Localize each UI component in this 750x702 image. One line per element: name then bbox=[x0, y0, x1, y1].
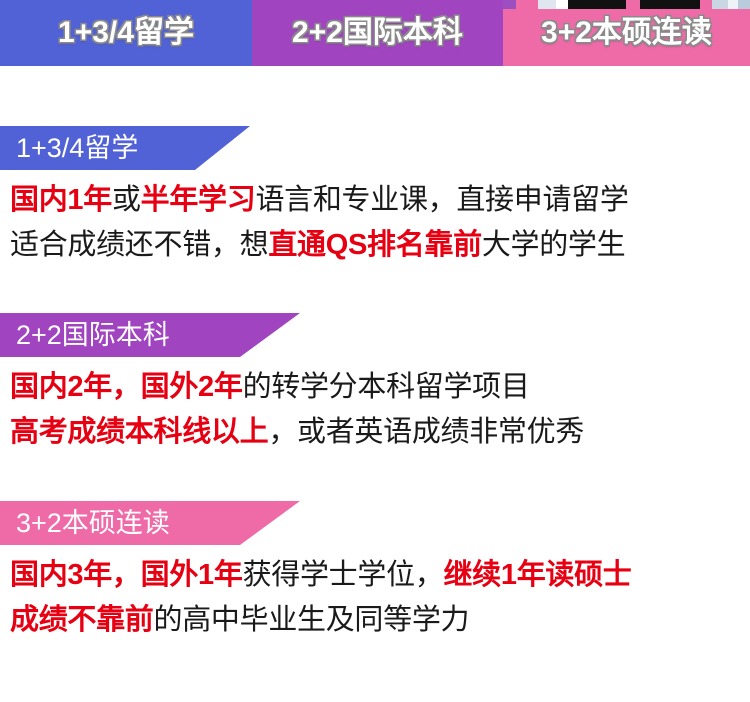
text-run: 获得学士学位， bbox=[243, 559, 444, 591]
text-run: 的转学分本科留学项目 bbox=[243, 371, 530, 403]
text-run: 语言和专业课，直接申请留学 bbox=[255, 184, 628, 216]
text-run: 国内3年，国外1年 bbox=[10, 559, 243, 591]
text-run: 或 bbox=[112, 184, 141, 216]
section-1-line-1: 国内1年或半年学习语言和专业课，直接申请留学 bbox=[10, 178, 744, 223]
text-run: 国内1年 bbox=[10, 184, 112, 216]
top-banner-segment-3-label: 3+2本硕连读 bbox=[541, 18, 712, 48]
text-run: 半年学习 bbox=[141, 184, 256, 216]
section-3-line-2: 成绩不靠前的高中毕业生及同等学力 bbox=[10, 598, 744, 643]
section-1-heading: 1+3/4留学 bbox=[0, 126, 750, 170]
cropped-photo-strip bbox=[503, 0, 750, 11]
section-3-line-1: 国内3年，国外1年获得学士学位，继续1年读硕士 bbox=[10, 553, 744, 598]
section-1-line-2: 适合成绩还不错，想直通QS排名靠前大学的学生 bbox=[10, 223, 744, 268]
text-run: 适合成绩还不错，想 bbox=[10, 229, 268, 261]
top-banner-segment-2-label: 2+2国际本科 bbox=[292, 18, 463, 48]
section-1: 1+3/4留学 国内1年或半年学习语言和专业课，直接申请留学 适合成绩还不错，想… bbox=[0, 126, 750, 268]
section-3-heading-label: 3+2本硕连读 bbox=[0, 510, 170, 537]
section-2-heading-label: 2+2国际本科 bbox=[0, 322, 170, 349]
top-banner-segment-1-label: 1+3/4留学 bbox=[58, 18, 194, 48]
section-3-heading: 3+2本硕连读 bbox=[0, 501, 750, 545]
section-2-line-1: 国内2年，国外2年的转学分本科留学项目 bbox=[10, 365, 744, 410]
section-2: 2+2国际本科 国内2年，国外2年的转学分本科留学项目 高考成绩本科线以上，或者… bbox=[0, 313, 750, 455]
text-run: 继续1年读硕士 bbox=[443, 559, 631, 591]
text-run: 大学的学生 bbox=[482, 229, 626, 261]
text-run: 国内2年，国外2年 bbox=[10, 371, 243, 403]
section-3: 3+2本硕连读 国内3年，国外1年获得学士学位，继续1年读硕士 成绩不靠前的高中… bbox=[0, 501, 750, 643]
text-run: 高考成绩本科线以上 bbox=[10, 416, 268, 448]
section-1-body: 国内1年或半年学习语言和专业课，直接申请留学 适合成绩还不错，想直通QS排名靠前… bbox=[0, 170, 750, 268]
section-3-body: 国内3年，国外1年获得学士学位，继续1年读硕士 成绩不靠前的高中毕业生及同等学力 bbox=[0, 545, 750, 643]
section-2-body: 国内2年，国外2年的转学分本科留学项目 高考成绩本科线以上，或者英语成绩非常优秀 bbox=[0, 357, 750, 455]
text-run: 的高中毕业生及同等学力 bbox=[154, 604, 470, 636]
text-run: ，或者英语成绩非常优秀 bbox=[268, 416, 584, 448]
top-banner-segment-1[interactable]: 1+3/4留学 bbox=[0, 0, 252, 66]
text-run: 直通QS排名靠前 bbox=[268, 229, 482, 261]
content-area: 1+3/4留学 国内1年或半年学习语言和专业课，直接申请留学 适合成绩还不错，想… bbox=[0, 126, 750, 643]
section-2-line-2: 高考成绩本科线以上，或者英语成绩非常优秀 bbox=[10, 410, 744, 455]
text-run: 成绩不靠前 bbox=[10, 604, 154, 636]
top-banner-segment-2[interactable]: 2+2国际本科 bbox=[252, 0, 503, 66]
section-1-heading-label: 1+3/4留学 bbox=[0, 135, 138, 162]
section-2-heading: 2+2国际本科 bbox=[0, 313, 750, 357]
top-banner-segment-3[interactable]: 3+2本硕连读 bbox=[503, 0, 750, 66]
top-banner: 1+3/4留学 2+2国际本科 3+2本硕连读 bbox=[0, 0, 750, 66]
